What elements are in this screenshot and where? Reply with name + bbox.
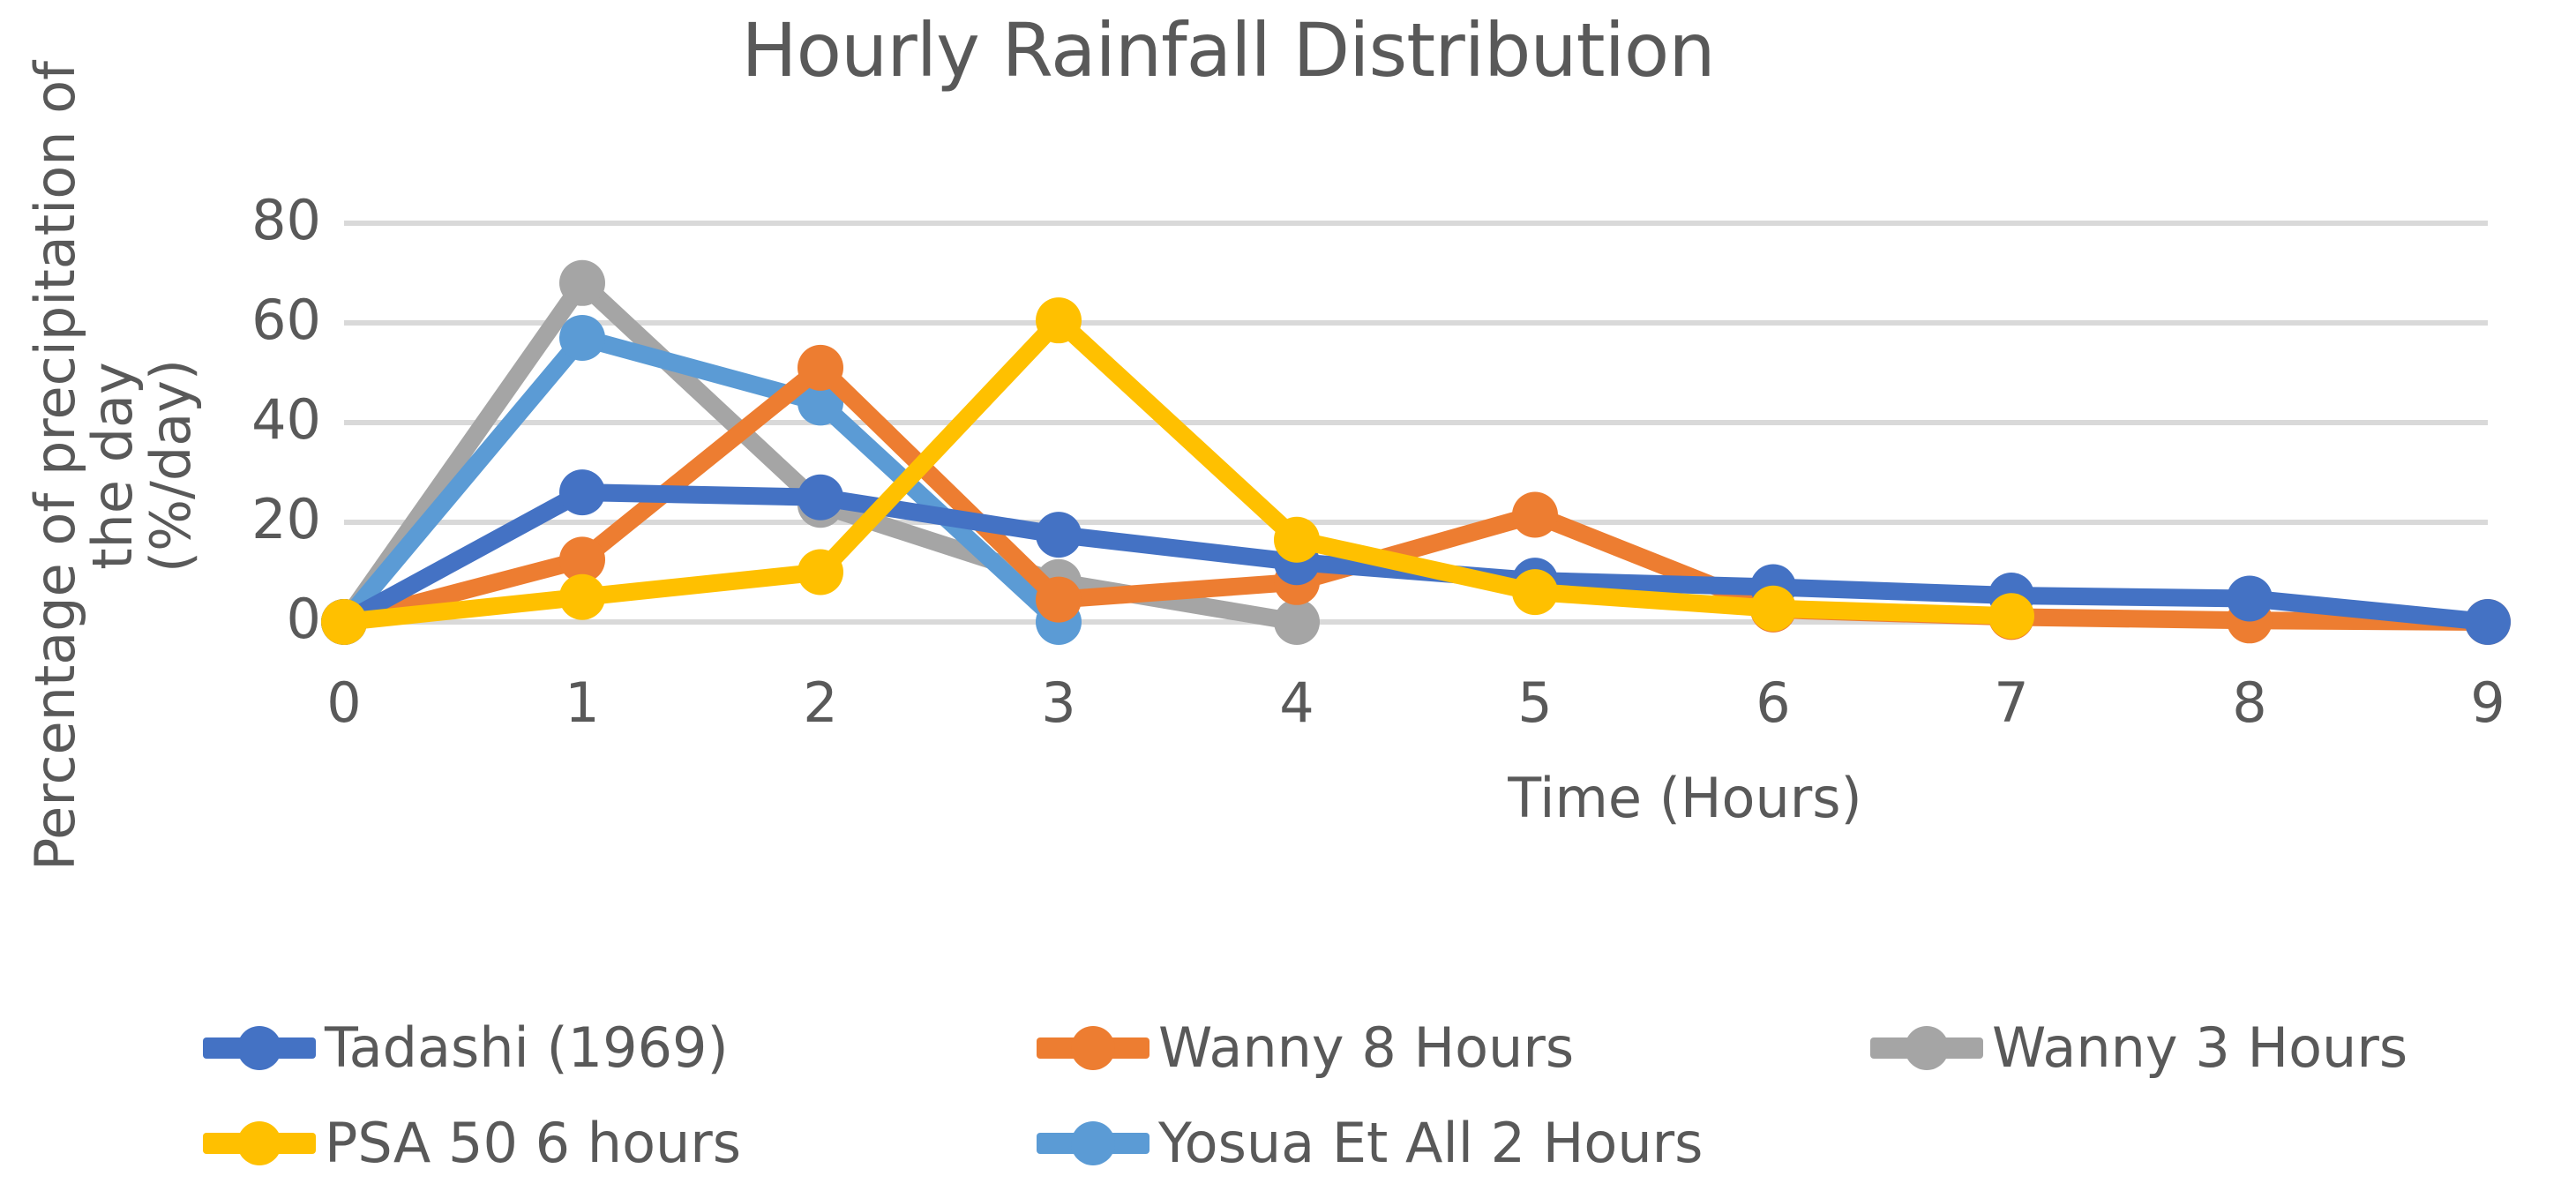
- legend-swatch-icon: [203, 1133, 316, 1154]
- x-tick-label-1: 1: [512, 676, 653, 730]
- y-tick-label-20: 20: [92, 492, 321, 547]
- x-tick-label-3: 3: [988, 676, 1129, 730]
- legend-item-wanny-8-hours[interactable]: Wanny 8 Hours: [1037, 1021, 1574, 1075]
- x-tick-label-9: 9: [2417, 676, 2558, 730]
- gridline-60: [344, 320, 2488, 326]
- chart-title: Hourly Rainfall Distribution: [0, 7, 2576, 94]
- x-tick-label-6: 6: [1703, 676, 1844, 730]
- gridline-80: [344, 221, 2488, 226]
- y-axis-title-line-1: Percentage of precipitation of: [26, 61, 84, 871]
- legend-marker-icon: [1071, 1026, 1115, 1070]
- chart-canvas: Hourly Rainfall Distribution Percentage …: [0, 0, 2576, 1191]
- y-tick-label-0: 0: [92, 592, 321, 647]
- x-tick-label-8: 8: [2179, 676, 2320, 730]
- plot-area: [344, 223, 2488, 622]
- y-axis-title: Percentage of precipitation of the day (…: [71, 69, 155, 863]
- legend-row: Tadashi (1969)Wanny 8 HoursWanny 3 Hours: [0, 1006, 2576, 1090]
- legend-label: Wanny 8 Hours: [1158, 1021, 1574, 1075]
- legend-row: PSA 50 6 hoursYosua Et All 2 Hours: [0, 1101, 2576, 1186]
- legend-label: Wanny 3 Hours: [1992, 1021, 2408, 1075]
- x-tick-label-0: 0: [273, 676, 415, 730]
- y-tick-label-80: 80: [92, 193, 321, 248]
- legend-swatch-icon: [1870, 1037, 1983, 1059]
- legend-item-yosua-et-all-2-hours[interactable]: Yosua Et All 2 Hours: [1037, 1116, 1703, 1171]
- legend-label: Tadashi (1969): [325, 1021, 729, 1075]
- legend-swatch-icon: [203, 1037, 316, 1059]
- x-tick-label-5: 5: [1464, 676, 1606, 730]
- legend-marker-icon: [1071, 1121, 1115, 1165]
- legend-item-psa-50-6-hours[interactable]: PSA 50 6 hours: [203, 1116, 741, 1171]
- legend-item-tadashi-1969-[interactable]: Tadashi (1969): [203, 1021, 729, 1075]
- legend-label: Yosua Et All 2 Hours: [1158, 1116, 1703, 1171]
- legend-swatch-icon: [1037, 1037, 1149, 1059]
- x-tick-label-2: 2: [750, 676, 891, 730]
- x-tick-label-7: 7: [1941, 676, 2082, 730]
- gridline-0: [344, 619, 2488, 625]
- x-axis-title: Time (Hours): [344, 766, 2461, 830]
- x-tick-label-4: 4: [1226, 676, 1367, 730]
- x-axis-title-text: Time (Hours): [1508, 766, 1861, 830]
- legend-marker-icon: [237, 1121, 281, 1165]
- legend-item-wanny-3-hours[interactable]: Wanny 3 Hours: [1870, 1021, 2408, 1075]
- chart-title-text: Hourly Rainfall Distribution: [741, 7, 1714, 94]
- legend-label: PSA 50 6 hours: [325, 1116, 741, 1171]
- gridline-40: [344, 420, 2488, 425]
- gridline-20: [344, 520, 2488, 525]
- legend-marker-icon: [1905, 1026, 1949, 1070]
- y-tick-label-60: 60: [92, 293, 321, 348]
- y-tick-label-40: 40: [92, 393, 321, 447]
- legend-marker-icon: [237, 1026, 281, 1070]
- legend-swatch-icon: [1037, 1133, 1149, 1154]
